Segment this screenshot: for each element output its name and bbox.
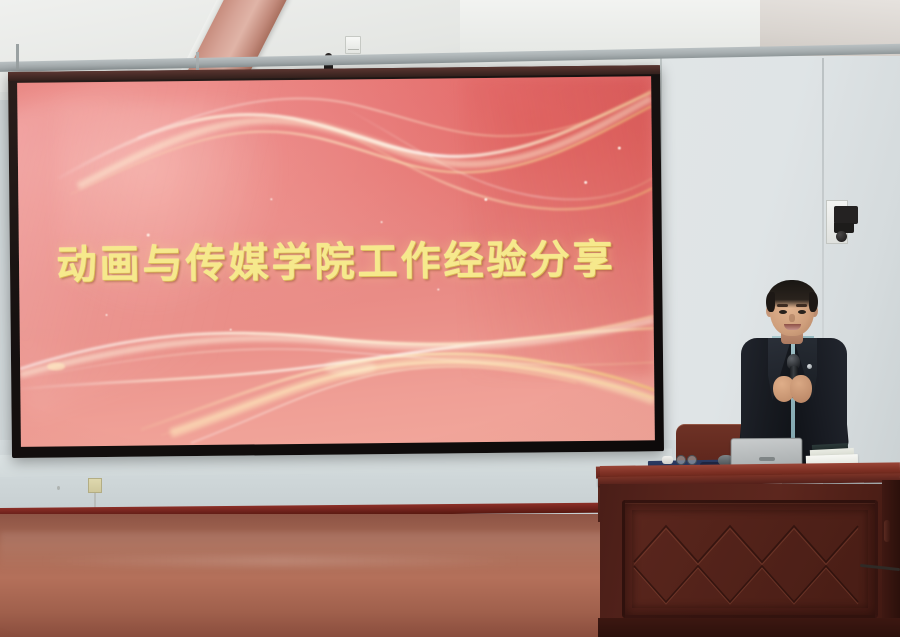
podium-base-plinth <box>598 618 900 637</box>
presenter-eyebrow-right <box>796 304 807 307</box>
podium-carved-diamond-pattern <box>632 510 868 608</box>
floor-sheen <box>0 532 660 572</box>
slide-vignette <box>17 76 655 447</box>
rail-hook-left <box>16 44 19 70</box>
podium-right-edge <box>882 480 900 630</box>
presenter-eye-right <box>798 310 806 314</box>
presenter-lapel-pin <box>807 364 812 369</box>
camera-knob <box>836 231 847 242</box>
eyeglasses-lens-left <box>676 455 686 465</box>
presenter-hair-right <box>809 292 818 312</box>
podium-side-handle <box>884 520 890 542</box>
eyeglasses-lens-right <box>687 455 697 465</box>
desk-object-white <box>662 456 673 464</box>
projection-screen[interactable]: 动画与传媒学院工作经验分享 <box>8 65 664 458</box>
rail-hook-mid <box>196 52 199 70</box>
wall-outlet-box-upper <box>345 36 361 54</box>
presenter-eye-left <box>779 310 787 314</box>
photograph-scene: 动画与传媒学院工作经验分享 <box>0 0 900 637</box>
presenter-hair-left <box>766 292 775 312</box>
presenter-eyebrow-left <box>777 304 788 307</box>
laptop-logo <box>759 457 775 461</box>
wall-camera-icon <box>834 206 858 224</box>
floor-sheen-streak <box>40 556 520 566</box>
slide-surface: 动画与传媒学院工作经验分享 <box>17 76 655 447</box>
presenter-hand-right <box>790 375 812 403</box>
presenter-nose <box>789 314 795 322</box>
wall-mark-left <box>57 486 60 490</box>
wall-outlet-box-lower <box>88 478 102 493</box>
